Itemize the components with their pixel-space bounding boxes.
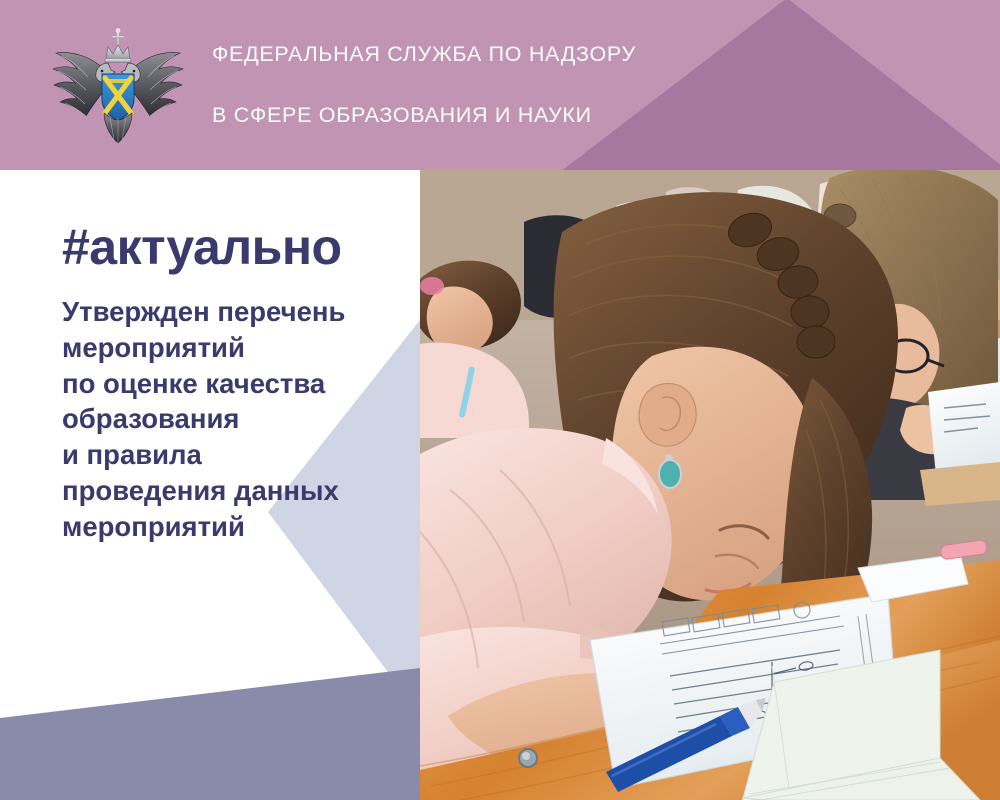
emblem-left-wing [53,53,104,116]
organization-name-line-1: ФЕДЕРАЛЬНАЯ СЛУЖБА ПО НАДЗОРУ [212,39,636,70]
headline-block: #актуально Утвержден перечень мероприяти… [62,222,422,544]
headline-text: Утвержден перечень мероприятий по оценке… [62,294,422,544]
rosobrnadzor-eagle-emblem-icon [42,25,194,145]
announcement-card: ФЕДЕРАЛЬНАЯ СЛУЖБА ПО НАДЗОРУ В СФЕРЕ ОБ… [0,0,1000,800]
emblem-shield [102,74,134,121]
organization-name: ФЕДЕРАЛЬНАЯ СЛУЖБА ПО НАДЗОРУ В СФЕРЕ ОБ… [212,9,636,162]
emblem-right-wing [132,53,183,116]
classroom-photo [420,170,1000,800]
header-banner: ФЕДЕРАЛЬНАЯ СЛУЖБА ПО НАДЗОРУ В СФЕРЕ ОБ… [0,0,1000,170]
hashtag-title: #актуально [62,222,422,272]
emblem-crown [105,45,131,63]
purple-diagonal-band [0,668,420,800]
organization-name-line-2: В СФЕРЕ ОБРАЗОВАНИЯ И НАУКИ [212,100,636,131]
classroom-photo-illustration [420,170,1000,800]
